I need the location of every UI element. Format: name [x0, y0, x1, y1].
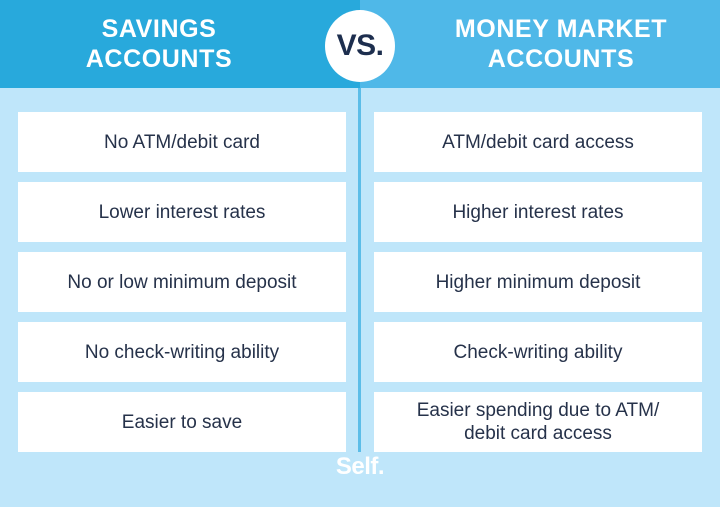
comparison-card: Lower interest rates: [18, 182, 346, 242]
comparison-card-text: ATM/debit card access: [442, 131, 634, 154]
header-left-panel: SAVINGS ACCOUNTS: [0, 0, 360, 88]
vs-label: VS.: [337, 31, 384, 61]
money-market-accounts-column: ATM/debit card accessHigher interest rat…: [374, 112, 702, 462]
vs-badge: VS.: [325, 10, 395, 82]
comparison-card-text: Check-writing ability: [454, 341, 623, 364]
footer: Self.: [0, 455, 720, 495]
comparison-card: Higher minimum deposit: [374, 252, 702, 312]
comparison-card: No ATM/debit card: [18, 112, 346, 172]
comparison-card-text: Higher minimum deposit: [436, 271, 641, 294]
comparison-card-text: Easier spending due to ATM/ debit card a…: [417, 399, 660, 445]
comparison-card-text: Easier to save: [122, 411, 242, 434]
comparison-infographic: SAVINGS ACCOUNTS MONEY MARKET ACCOUNTS V…: [0, 0, 720, 507]
header-right-panel: MONEY MARKET ACCOUNTS: [360, 0, 720, 88]
comparison-card: No or low minimum deposit: [18, 252, 346, 312]
column-divider: [358, 88, 361, 452]
money-market-accounts-title: MONEY MARKET ACCOUNTS: [413, 14, 667, 74]
comparison-card-text: Higher interest rates: [452, 201, 623, 224]
self-logo: Self.: [336, 455, 384, 479]
comparison-card: Check-writing ability: [374, 322, 702, 382]
savings-accounts-column: No ATM/debit cardLower interest ratesNo …: [18, 112, 346, 462]
comparison-card-text: Lower interest rates: [99, 201, 266, 224]
comparison-card: No check-writing ability: [18, 322, 346, 382]
comparison-card-text: No or low minimum deposit: [67, 271, 296, 294]
comparison-card: Easier to save: [18, 392, 346, 452]
comparison-card: Easier spending due to ATM/ debit card a…: [374, 392, 702, 452]
comparison-card-text: No check-writing ability: [85, 341, 279, 364]
savings-accounts-title: SAVINGS ACCOUNTS: [86, 14, 274, 74]
comparison-card: ATM/debit card access: [374, 112, 702, 172]
comparison-card-text: No ATM/debit card: [104, 131, 260, 154]
comparison-card: Higher interest rates: [374, 182, 702, 242]
